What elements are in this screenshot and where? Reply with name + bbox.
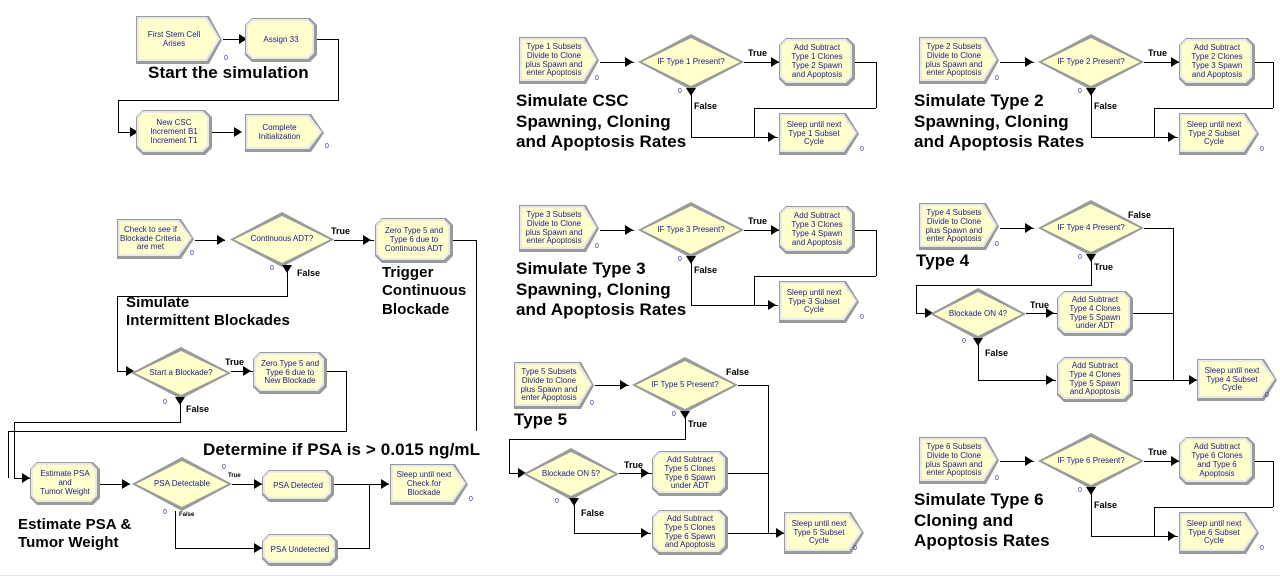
conn-t2-addsub-down [1273, 62, 1274, 108]
conn-zca-out [453, 240, 477, 241]
node-label: Add Subtract Type 3 Clones Type 4 Spawn … [788, 212, 845, 248]
conn-t3-to-sleep [754, 276, 755, 305]
conn-assign-back [118, 100, 339, 101]
port-index: 0 [860, 314, 864, 321]
port-index: 0 [469, 496, 473, 503]
conn-t1-addsub-back [754, 108, 876, 109]
node-complete-initialization[interactable]: Complete Initialization [245, 114, 324, 152]
node-if-type4-present[interactable]: IF Type 4 Present? [1038, 200, 1144, 256]
node-type6-subsets[interactable]: Type 6 Subsets Divide to Clone plus Spaw… [919, 437, 999, 484]
node-label: Sleep until next Type 5 Subset Cycle [789, 520, 850, 547]
node-type3-sleep[interactable]: Sleep until next Type 3 Subset Cycle [779, 281, 859, 323]
conn-t3-false-right [691, 305, 778, 306]
node-label: Sleep until next Check for Blockade [394, 471, 455, 498]
arrowhead-down [1086, 88, 1096, 96]
port-index: 0 [1260, 146, 1264, 153]
conn-assign-down [338, 39, 339, 100]
edge-label-false: False [581, 508, 604, 518]
arrowhead-right [1025, 57, 1033, 67]
conn-znb-out [327, 371, 347, 372]
conn-t1-addsub-down [876, 62, 877, 108]
port-index: 0 [1265, 392, 1269, 399]
conn-t2-addsub-out [1255, 62, 1274, 63]
port-index: 0 [595, 75, 599, 82]
node-label: Estimate PSA and Tumor Weight [30, 470, 100, 497]
arrowhead-down [1086, 487, 1096, 495]
port-index: 0 [1078, 254, 1082, 261]
conn-down-to-newcsc [118, 100, 119, 132]
node-type2-add-subtract[interactable]: Add Subtract Type 2 Clones Type 3 Spawn … [1179, 38, 1255, 86]
node-label: IF Type 1 Present? [654, 58, 727, 67]
node-psa-detected[interactable]: PSA Detected [262, 470, 334, 502]
arrowhead-down [686, 88, 696, 96]
node-type3-subsets[interactable]: Type 3 Subsets Divide to Clone plus Spaw… [519, 205, 599, 252]
conn-t4-false-down [1173, 228, 1174, 380]
conn-left-rail-b [8, 431, 9, 478]
node-type1-add-subtract[interactable]: Add Subtract Type 1 Clones Type 2 Spawn … [779, 38, 855, 86]
node-label: Add Subtract Type 5 Clones Type 6 Spawn … [661, 515, 718, 551]
section-caption-csc: Simulate CSC Spawning, Cloning and Apopt… [516, 91, 686, 153]
node-label: Type 4 Subsets Divide to Clone plus Spaw… [923, 209, 986, 245]
port-index: 0 [962, 338, 966, 345]
conn-t1-false-down [691, 90, 692, 137]
section-caption-type4: Type 4 [916, 251, 969, 272]
edge-label-false: False [694, 101, 717, 111]
conn-t6-addsub-down [1273, 461, 1274, 507]
port-index: 0 [860, 146, 864, 153]
node-blockade-on-4[interactable]: Blockade ON 4? [930, 288, 1026, 340]
arrowhead-right [363, 235, 371, 245]
edge-label-true: True [1094, 262, 1113, 272]
arrowhead-right [243, 366, 251, 376]
conn-undetected-out [338, 548, 370, 549]
node-continuous-adt[interactable]: Continuous ADT? [230, 212, 334, 267]
conn-t2-false-down [1091, 90, 1092, 137]
node-type4-subsets[interactable]: Type 4 Subsets Divide to Clone plus Spaw… [919, 203, 999, 250]
conn-t1-false-right [691, 137, 778, 138]
node-label: Check to see if Blockade Criteria are me… [117, 226, 184, 253]
node-label: PSA Undetected [268, 546, 333, 555]
edge-label-false: False [1094, 101, 1117, 111]
conn-t5-apo-out [728, 533, 769, 534]
section-caption-psa-rule: Determine if PSA is > 0.015 ng/mL [203, 440, 480, 461]
arrowhead-right [1168, 531, 1176, 541]
arrowhead-right [1168, 132, 1176, 142]
conn-t6-addsub-back [1154, 507, 1273, 508]
conn-t1-addsub-out [855, 62, 877, 63]
conn-t4-true-down2 [916, 285, 917, 313]
conn-t5-adt-out [728, 473, 769, 474]
section-caption-type6: Simulate Type 6 Cloning and Apoptosis Ra… [914, 490, 1050, 552]
edge-label-false: False [694, 265, 717, 275]
edge-label-false: False [985, 348, 1008, 358]
arrowhead-right [1046, 375, 1054, 385]
conn-t5-false-down [768, 385, 769, 533]
arrowhead-right [768, 132, 776, 142]
edge-label-false: False [297, 268, 320, 278]
node-label: IF Type 3 Present? [654, 226, 727, 235]
node-label: PSA Detected [270, 482, 326, 491]
conn-t2-to-sleep [1154, 108, 1155, 137]
conn-b4-false-right [978, 380, 1056, 381]
arrowhead-right [1046, 308, 1054, 318]
conn-sb-false-left [14, 422, 181, 423]
conn-b4-false-down [978, 340, 979, 380]
flowchart-canvas: First Stem Cell Arises 0 Assign 33 New C… [0, 0, 1280, 576]
conn-psa-merge [369, 484, 370, 548]
conn-t3-false-down [691, 258, 692, 305]
arrowhead-right [641, 528, 649, 538]
conn-t4-true-left [916, 285, 1092, 286]
edge-label-true: True [1148, 447, 1167, 457]
conn-b5-false-right [574, 533, 651, 534]
port-index: 0 [1078, 487, 1082, 494]
node-if-type5-present[interactable]: IF Type 5 Present? [632, 357, 738, 413]
node-label: Type 2 Subsets Divide to Clone plus Spaw… [923, 43, 986, 79]
node-label: Assign 33 [260, 36, 301, 45]
conn-t6-to-sleep [1154, 507, 1155, 536]
node-assign-33[interactable]: Assign 33 [245, 18, 317, 62]
arrowhead-right [1189, 375, 1197, 385]
node-label: Add Subtract Type 1 Clones Type 2 Spawn … [788, 44, 845, 80]
section-caption-type3: Simulate Type 3 Spawning, Cloning and Ap… [516, 259, 686, 321]
arrowhead-down [282, 265, 292, 273]
conn-adt-false-down2 [117, 296, 118, 371]
node-type2-sleep[interactable]: Sleep until next Type 2 Subset Cycle [1179, 113, 1259, 155]
section-caption-trigger: Trigger Continuous Blockade [382, 264, 466, 319]
conn-t3-addsub-down [876, 230, 877, 276]
section-caption-start: Start the simulation [148, 63, 309, 84]
conn-t6-false-down [1091, 489, 1092, 536]
conn-t5-true-down2 [509, 439, 510, 473]
node-label: Complete Initialization [256, 124, 304, 142]
arrowhead-right [1025, 223, 1033, 233]
port-index: 0 [222, 464, 226, 471]
arrowhead-right [1171, 57, 1179, 67]
conn-det-false-right [175, 548, 262, 549]
port-index: 0 [595, 243, 599, 250]
node-label: Sleep until next Type 6 Subset Cycle [1184, 520, 1245, 547]
port-index: 0 [1260, 545, 1264, 552]
node-psa-undetected[interactable]: PSA Undetected [262, 534, 338, 566]
port-index: 0 [163, 399, 167, 406]
arrowhead-right [641, 468, 649, 478]
edge-label-true: True [748, 216, 767, 226]
port-index: 0 [853, 545, 857, 552]
edge-label-false: False [1128, 210, 1151, 220]
node-type1-subsets[interactable]: Type 1 Subsets Divide to Clone plus Spaw… [519, 37, 599, 84]
node-label: Type 6 Subsets Divide to Clone plus Spaw… [923, 443, 986, 479]
edge-label-false: False [186, 404, 209, 414]
port-index: 0 [270, 265, 274, 272]
arrowhead-down [973, 338, 983, 346]
edge-label-true: True [688, 419, 707, 429]
arrowhead-right [234, 127, 242, 137]
arrowhead-right [254, 543, 262, 553]
node-label: Start a Blockade? [146, 369, 215, 378]
arrowhead-down [1086, 254, 1096, 262]
arrowhead-down [680, 411, 690, 419]
edge-label-true: True [1148, 48, 1167, 58]
port-index: 0 [672, 411, 676, 418]
node-type6-sleep[interactable]: Sleep until next Type 6 Subset Cycle [1179, 512, 1259, 554]
arrowhead-down [569, 498, 579, 506]
edge-label-false: False [179, 512, 194, 518]
node-label: Sleep until next Type 4 Subset Cycle [1202, 367, 1263, 394]
node-type3-add-subtract[interactable]: Add Subtract Type 3 Clones Type 4 Spawn … [779, 206, 855, 254]
arrowhead-right [217, 235, 225, 245]
edge-label-true: True [228, 473, 241, 479]
node-if-type1-present[interactable]: IF Type 1 Present? [638, 34, 744, 90]
section-caption-type5: Type 5 [514, 410, 567, 431]
node-label: IF Type 2 Present? [1054, 58, 1127, 67]
node-label: Continuous ADT? [248, 235, 317, 244]
conn-detected-out [334, 484, 370, 485]
node-type5-subsets[interactable]: Type 5 Subsets Divide to Clone plus Spaw… [514, 362, 594, 409]
edge-label-true: True [225, 357, 244, 367]
edge-label-false: False [726, 367, 749, 377]
arrowhead-right [625, 57, 633, 67]
port-index: 0 [995, 75, 999, 82]
node-psa-detectable[interactable]: PSA Detectable [132, 457, 232, 511]
node-new-csc[interactable]: New CSC Increment B1 Increment T1 [136, 110, 212, 155]
section-caption-type2: Simulate Type 2 Spawning, Cloning and Ap… [914, 91, 1084, 153]
node-zero-new-blockade[interactable]: Zero Type 5 and Type 6 due to New Blocka… [253, 352, 327, 394]
node-label: Sleep until next Type 3 Subset Cycle [784, 289, 845, 316]
node-label: Add Subtract Type 2 Clones Type 3 Spawn … [1188, 44, 1245, 80]
node-first-stem-cell[interactable]: First Stem Cell Arises [136, 16, 222, 64]
port-index: 0 [555, 498, 559, 505]
conn-t5-true-left [509, 439, 686, 440]
node-label: Type 3 Subsets Divide to Clone plus Spaw… [523, 211, 586, 247]
node-label: First Stem Cell Arises [145, 31, 203, 49]
conn-t4-apo-out [1133, 380, 1174, 381]
node-type5-add-subtract-adt[interactable]: Add Subtract Type 5 Clones Type 6 Spawn … [652, 451, 728, 496]
node-label: New CSC Increment B1 Increment T1 [147, 119, 201, 146]
port-index: 0 [224, 55, 228, 62]
conn-t6-addsub-out [1255, 461, 1274, 462]
node-blockade-on-5[interactable]: Blockade ON 5? [523, 448, 619, 500]
arrowhead-right [1025, 456, 1033, 466]
conn-zca-down [476, 240, 477, 431]
node-if-type3-present[interactable]: IF Type 3 Present? [638, 202, 744, 258]
node-label: Sleep until next Type 1 Subset Cycle [784, 121, 845, 148]
arrowhead-right [768, 300, 776, 310]
node-label: Type 1 Subsets Divide to Clone plus Spaw… [523, 43, 586, 79]
node-type5-add-subtract-apoptosis[interactable]: Add Subtract Type 5 Clones Type 6 Spawn … [652, 510, 728, 555]
node-estimate-psa[interactable]: Estimate PSA and Tumor Weight [30, 462, 100, 505]
conn-det-false-down [175, 511, 176, 548]
section-caption-psa: Estimate PSA & Tumor Weight [18, 516, 131, 553]
node-psa-sleep[interactable]: Sleep until next Check for Blockade [390, 464, 468, 505]
port-index: 0 [325, 143, 329, 150]
port-index: 0 [590, 400, 594, 407]
edge-label-true: True [331, 226, 350, 236]
arrowhead-right [776, 528, 784, 538]
port-index: 0 [190, 250, 194, 257]
node-type6-add-subtract[interactable]: Add Subtract Type 6 Clones and Type 6 Ap… [1179, 437, 1255, 485]
section-caption-intermittent: Simulate Intermittent Blockades [126, 294, 290, 331]
conn-t4-false-right [1144, 228, 1174, 229]
node-label: Add Subtract Type 4 Clones Type 5 Spawn … [1066, 296, 1123, 332]
node-if-type2-present[interactable]: IF Type 2 Present? [1038, 34, 1144, 90]
node-label: IF Type 4 Present? [1054, 224, 1127, 233]
arrowhead-right [381, 479, 389, 489]
port-index: 0 [995, 475, 999, 482]
arrowhead-right [625, 225, 633, 235]
node-type2-subsets[interactable]: Type 2 Subsets Divide to Clone plus Spaw… [919, 37, 999, 84]
node-type4-add-subtract-adt[interactable]: Add Subtract Type 4 Clones Type 5 Spawn … [1057, 291, 1133, 336]
node-label: Blockade ON 5? [539, 470, 603, 479]
conn-t3-addsub-back [754, 276, 876, 277]
node-label: Type 5 Subsets Divide to Clone plus Spaw… [518, 368, 581, 404]
node-label: Zero Type 5 and Type 6 due to Continuous… [382, 227, 446, 254]
edge-label-true: True [748, 48, 767, 58]
arrowhead-right [122, 479, 130, 489]
node-label: Sleep until next Type 2 Subset Cycle [1184, 121, 1245, 148]
conn-t2-false-right [1091, 137, 1178, 138]
arrowhead-right [620, 380, 628, 390]
node-label: Add Subtract Type 5 Clones Type 6 Spawn … [661, 456, 718, 492]
conn-znb-left [8, 431, 347, 432]
node-label: IF Type 6 Present? [1054, 457, 1127, 466]
node-type4-add-subtract-apoptosis[interactable]: Add Subtract Type 4 Clones Type 5 Spawn … [1057, 357, 1133, 402]
node-if-type6-present[interactable]: IF Type 6 Present? [1038, 433, 1144, 489]
conn-t4-adt-out [1133, 313, 1174, 314]
port-index: 0 [995, 241, 999, 248]
node-start-a-blockade[interactable]: Start a Blockade? [131, 347, 231, 399]
node-label: Zero Type 5 and Type 6 due to New Blocka… [258, 360, 322, 387]
conn-t2-addsub-back [1154, 108, 1273, 109]
conn-znb-down [346, 371, 347, 431]
node-label: PSA Detectable [151, 480, 213, 489]
node-label: Add Subtract Type 6 Clones and Type 6 Ap… [1188, 443, 1245, 479]
arrowhead-down [686, 256, 696, 264]
node-label: Blockade ON 4? [946, 310, 1010, 319]
node-label: Add Subtract Type 4 Clones Type 5 Spawn … [1066, 362, 1123, 398]
arrowhead-right [254, 479, 262, 489]
node-type5-sleep[interactable]: Sleep until next Type 5 Subset Cycle [784, 512, 864, 554]
node-label: IF Type 5 Present? [648, 381, 721, 390]
conn-t5-false-right [738, 385, 769, 386]
node-type1-sleep[interactable]: Sleep until next Type 1 Subset Cycle [779, 113, 859, 155]
conn-assign-out [317, 39, 339, 40]
conn-t3-addsub-out [855, 230, 877, 231]
arrowhead-right [1171, 456, 1179, 466]
edge-label-false: False [1094, 500, 1117, 510]
node-check-blockade-criteria[interactable]: Check to see if Blockade Criteria are me… [117, 219, 194, 259]
arrowhead-right [771, 225, 779, 235]
conn-t1-to-sleep [754, 108, 755, 137]
conn-t6-false-right [1091, 536, 1178, 537]
arrowhead-right [771, 57, 779, 67]
port-index: 0 [163, 509, 167, 516]
arrowhead-down [175, 397, 185, 405]
node-zero-continuous-adt[interactable]: Zero Type 5 and Type 6 due to Continuous… [375, 218, 453, 263]
arrowhead-right [22, 473, 30, 483]
